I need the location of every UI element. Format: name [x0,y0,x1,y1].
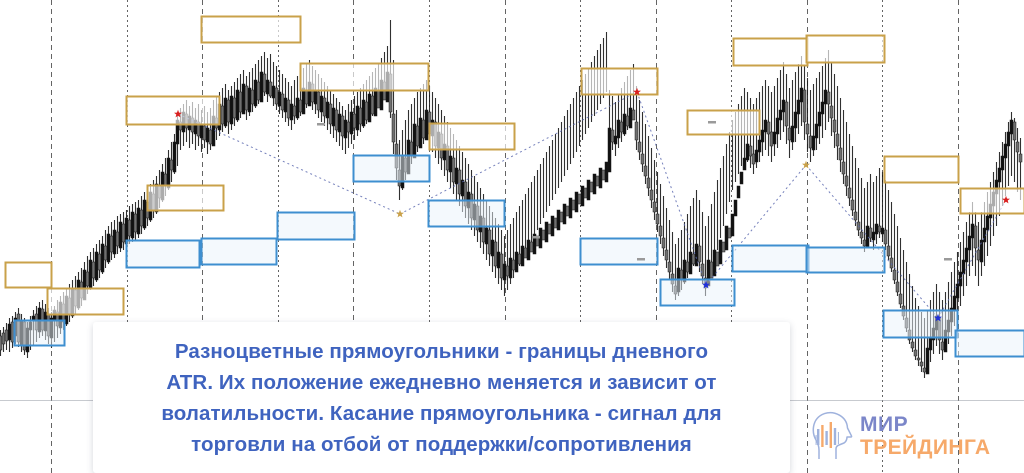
candle-body [812,136,815,150]
candle-body [425,110,428,140]
candle-body [578,194,581,204]
candle-body [248,88,251,112]
caption-text: Разноцветные прямоугольники - границы дн… [161,336,721,460]
candle-body [362,100,365,126]
candle-body [962,260,965,274]
candle-body [227,100,230,122]
atr-resistance-box[interactable] [807,36,885,63]
candle-body [791,126,794,142]
atr-support-box[interactable] [354,156,430,182]
candle-body [821,102,824,114]
candle-body [746,144,749,160]
candle-body [713,250,716,276]
candle-body [356,106,359,130]
candle-body [86,272,89,286]
candle-body [581,186,584,206]
candle-body [500,254,503,278]
candle-body [563,204,566,224]
candle-body [650,190,653,200]
candle-body [329,104,332,124]
candle-body [254,80,257,106]
candle-body [344,120,347,138]
candle-body [530,242,533,252]
candle-body [128,220,131,236]
candle-body [272,86,275,98]
candle-body [32,316,35,320]
candle-body [245,86,248,110]
atr-support-box[interactable] [15,321,65,346]
candle-body [221,106,224,124]
candle-body [620,122,623,132]
candle-body [359,108,362,124]
candle-body [200,124,203,138]
candle-body [761,130,764,142]
price-tag-stub [637,258,645,261]
candle-body [206,128,209,142]
candle-body [1001,156,1004,170]
atr-resistance-box[interactable] [430,124,515,150]
candle-body [941,342,944,350]
candle-body [824,90,827,104]
candle-body [881,228,884,234]
candle-body [665,250,668,260]
candle-body [722,242,725,252]
atr-support-box[interactable] [127,241,200,268]
candle-body [545,222,548,242]
candle-body [119,222,122,248]
candle-body [332,108,335,126]
candle-body [293,106,296,116]
candle-body [266,80,269,94]
candle-body [797,100,800,114]
candle-body [521,246,524,266]
candle-body [1007,132,1010,146]
candle-body [107,234,110,262]
candle-body [92,262,95,278]
atr-support-box[interactable] [733,246,809,272]
candle-body [566,206,569,216]
candle-body [788,128,791,140]
candle-body [122,224,125,242]
candle-body [590,182,593,192]
candle-body [698,246,701,262]
candle-body [1004,144,1007,158]
candle-body [848,188,851,198]
atr-resistance-box[interactable] [688,111,760,135]
candle-body [614,136,617,144]
candle-body [728,228,731,238]
candle-body [518,254,521,264]
candle-body [89,260,92,288]
candle-body [644,166,647,176]
candle-body [596,176,599,186]
candle-body [1019,154,1022,162]
candle-body [815,124,818,138]
candle-body [593,174,596,194]
candle-body [515,252,518,272]
candle-body [374,88,377,116]
atr-resistance-box[interactable] [6,263,52,288]
candle-body [833,120,836,132]
candle-body [716,252,719,266]
candle-body [779,110,782,120]
candle-body [794,112,797,128]
candle-body [587,180,590,200]
candle-body [365,102,368,120]
candle-body [920,362,923,366]
candle-body [512,260,515,270]
candle-body [305,90,308,104]
atr-resistance-box[interactable] [48,289,124,315]
candle-body [275,88,278,104]
atr-resistance-box[interactable] [885,157,959,183]
candle-body [605,162,608,182]
candle-body [1016,142,1019,152]
candle-body [560,212,563,222]
candle-body [860,232,863,238]
candle-body [548,224,551,234]
candle-body [8,324,11,340]
candle-body [410,142,413,156]
candle-body [326,102,329,118]
touch-marker-star[interactable] [396,210,404,218]
candle-body [968,236,971,250]
candle-body [611,130,614,142]
candle-body [554,218,557,228]
atr-resistance-box[interactable] [301,64,429,91]
candle-body [647,178,650,188]
candle-body [503,264,506,280]
candle-body [1013,122,1016,140]
candle-body [524,248,527,258]
candle-body [725,226,728,250]
candle-body [167,158,170,188]
candle-body [623,114,626,134]
candle-body [101,244,104,272]
atr-support-box[interactable] [202,239,277,265]
candle-body [731,214,734,236]
candle-body [977,250,980,260]
candle-body [350,112,353,134]
atr-resistance-box[interactable] [582,69,658,95]
candle-body [506,266,509,276]
trader-head-icon [806,411,853,461]
candle-body [854,212,857,220]
candle-body [830,106,833,118]
candle-body [113,230,116,254]
candle-body [899,294,902,304]
candle-body [740,172,743,184]
candle-body [497,252,500,268]
logo-word-treidinga: ТРЕЙДИНГА [860,437,991,458]
trendlines [178,92,1006,318]
candle-body [317,92,320,110]
candle-body [488,230,491,254]
candle-body [626,116,629,126]
candle-body [818,112,821,126]
candle-body [911,342,914,348]
brand-logo[interactable]: МИР ТРЕЙДИНГА [806,407,978,465]
candle-body [827,92,830,104]
candle-body [0,336,2,350]
candle-body [917,358,920,360]
candle-body [260,72,263,102]
candle-body [686,262,689,272]
atr-resistance-box[interactable] [202,17,301,43]
price-tag-stub [944,258,952,261]
candle-body [668,262,671,272]
price-tag-stub [708,121,716,124]
trendline [806,165,938,318]
candle-body [278,92,281,106]
atr-support-box[interactable] [884,311,958,338]
candle-body [929,338,932,350]
candle-body [767,122,770,134]
candle-body [662,238,665,248]
candle-body [2,333,5,344]
price-tag-stub [532,236,540,239]
candle-body [773,132,776,144]
candle-body [236,90,239,120]
candle-body [224,98,227,126]
candle-body [284,98,287,112]
candle-body [203,126,206,140]
candle-body [845,176,848,186]
candle-body [140,210,143,226]
caption-card: Разноцветные прямоугольники - границы дн… [93,322,790,473]
candle-body [806,124,809,134]
candle-body [416,126,419,146]
candle-body [758,140,761,152]
candle-body [842,162,845,174]
candle-body [851,200,854,210]
candle-body [839,148,842,160]
candle-body [953,296,956,310]
candle-body [653,202,656,212]
atr-resistance-box[interactable] [127,97,220,125]
candle-body [551,216,554,236]
candle-body [878,226,881,232]
candle-body [290,104,293,120]
candle-body [5,330,8,341]
candle-body [509,258,512,278]
candle-body [635,122,638,140]
candle-body [923,368,926,372]
candle-body [986,216,989,230]
candle-body [392,114,395,142]
candle-body [872,232,875,240]
candle-body [452,158,455,182]
atr-support-box[interactable] [661,280,735,306]
candle-body [341,116,344,136]
candle-body [809,136,812,148]
candle-body [281,94,284,110]
candle-body [875,224,878,234]
candle-body [965,248,968,262]
candle-body [110,236,113,252]
candle-body [914,350,917,356]
candle-body [569,198,572,218]
candle-body [617,120,620,138]
candle-body [137,208,140,234]
candle-body [209,130,212,144]
candle-body [608,128,611,172]
candle-body [314,90,317,104]
candle-body [719,240,722,264]
candle-body [887,246,890,256]
candle-body [455,168,458,184]
candle-body [776,118,779,134]
candle-body [998,168,1001,182]
candle-body [572,200,575,210]
candle-body [368,94,371,122]
candle-body [701,264,704,276]
candle-body [659,226,662,236]
screenshot-root: Разноцветные прямоугольники - границы дн… [0,0,1024,473]
candle-body [353,114,356,128]
candle-body [269,82,272,96]
candle-body [422,120,425,138]
candle-body [890,258,893,268]
candle-body [377,90,380,108]
candle-body [743,158,746,170]
candle-body [338,114,341,132]
candle-body [770,132,773,146]
candle-body [689,252,692,274]
candle-body [869,228,872,238]
candle-body [413,124,416,158]
candle-body [836,134,839,146]
candle-body [641,154,644,164]
atr-support-box[interactable] [429,201,505,227]
candle-body [893,270,896,280]
candle-body [575,192,578,212]
candle-body [95,252,98,280]
candle-body [863,240,866,246]
candle-body [299,100,302,112]
candle-body [131,212,134,238]
touch-markers [174,88,1010,322]
atr-resistance-box[interactable] [734,39,808,66]
touch-marker-star[interactable] [802,161,810,169]
candle-body [884,230,887,244]
candle-body [458,170,461,194]
candle-body [239,92,242,112]
candle-body [263,74,266,92]
candle-body [494,242,497,266]
candle-body [170,160,173,170]
candle-body [710,262,713,278]
candle-body [752,154,755,164]
candle-body [491,240,494,256]
candle-body [287,100,290,118]
price-tag-stub [317,123,325,126]
candle-body [134,214,137,232]
candle-body [638,142,641,152]
candle-body [320,96,323,112]
candle-body [800,88,803,102]
candle-body [233,98,236,118]
candle-body [449,156,452,172]
candle-body [542,230,545,240]
atr-support-box[interactable] [581,239,658,265]
candle-body [98,254,101,270]
candle-body [242,84,245,114]
candle-body [527,240,530,260]
candle-body [692,254,695,264]
candle-body [419,118,422,148]
candle-body [104,246,107,260]
candle-body [737,186,740,198]
candle-body [632,110,635,120]
candle-body [230,96,233,124]
candle-body [734,200,737,216]
candle-body [971,224,974,238]
atr-resistance-box[interactable] [148,186,224,211]
candle-body [755,150,758,162]
candle-body [782,100,785,112]
candle-body [257,82,260,100]
candle-body [302,88,305,114]
candle-body [164,174,167,186]
candle-body [335,110,338,130]
candle-body [629,108,632,128]
candle-body [896,282,899,292]
atr-support-box[interactable] [956,331,1024,357]
atr-support-box[interactable] [807,248,885,273]
candle-body [749,146,752,156]
candle-body [656,214,659,224]
candle-body [251,90,254,104]
candle-body [1010,120,1013,134]
candle-body [974,226,977,248]
candle-body [461,180,464,196]
candle-body [173,142,176,172]
candle-body [602,170,605,180]
candle-body [116,232,119,246]
candle-body [764,120,767,132]
candle-body [557,210,560,230]
candle-body [296,98,299,118]
candle-body [485,228,488,244]
candle-body [371,96,374,114]
candle-body [347,122,350,132]
candle-body [599,168,602,188]
candle-body [323,98,326,116]
logo-word-mir: МИР [860,414,991,435]
candle-body [584,188,587,198]
candle-body [926,348,929,374]
atr-resistance-box[interactable] [961,189,1024,214]
logo-wordmark: МИР ТРЕЙДИНГА [860,414,991,458]
candle-body [785,102,788,126]
candle-body [803,90,806,122]
atr-support-box[interactable] [278,213,355,240]
candle-body [143,200,146,228]
